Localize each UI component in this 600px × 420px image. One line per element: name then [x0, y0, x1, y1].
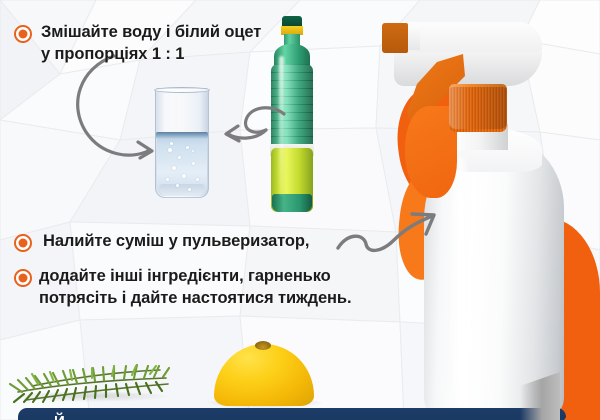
- spray-head-top: [404, 22, 542, 52]
- glass-base: [159, 184, 205, 196]
- bubble: [188, 188, 191, 191]
- bubble: [192, 162, 195, 165]
- vinegar-bottle-base: [272, 194, 312, 212]
- step-2: Налийте суміш у пульверизатор,: [14, 231, 344, 253]
- arrow-bottle-to-glass: [222, 104, 288, 152]
- bottom-title-bar: Й: [18, 408, 566, 420]
- bubble: [182, 174, 186, 178]
- bubble: [176, 184, 179, 187]
- step-2-text: Налийте суміш у пульверизатор,: [43, 231, 309, 253]
- spray-collar-shading: [449, 84, 507, 129]
- bubble: [192, 150, 194, 152]
- bubble: [186, 146, 189, 149]
- spray-nozzle-tip[interactable]: [382, 23, 408, 53]
- step-1-text: Змішайте воду і білий оцет у пропорціях …: [41, 22, 264, 66]
- step-3: додайте інші інгредієнти, гарненько потр…: [14, 266, 364, 310]
- step-1: Змішайте воду і білий оцет у пропорціях …: [14, 22, 264, 66]
- spray-bottle-highlight: [448, 156, 474, 406]
- bubble: [196, 178, 199, 181]
- rosemary-sprig: [2, 350, 172, 408]
- bullet-icon: [14, 269, 32, 287]
- infographic-canvas: Змішайте воду і білий оцет у пропорціях …: [0, 0, 600, 420]
- bullet-icon: [14, 25, 32, 43]
- bottom-title-bar-text: Й: [54, 413, 65, 420]
- arrow-text-to-glass: [70, 52, 180, 167]
- arrow-to-spray-bottle: [336, 198, 446, 262]
- lemon-stem-tip: [255, 341, 271, 350]
- bubble: [166, 178, 169, 181]
- bullet-icon: [14, 234, 32, 252]
- step-3-text: додайте інші інгредієнти, гарненько потр…: [39, 266, 364, 310]
